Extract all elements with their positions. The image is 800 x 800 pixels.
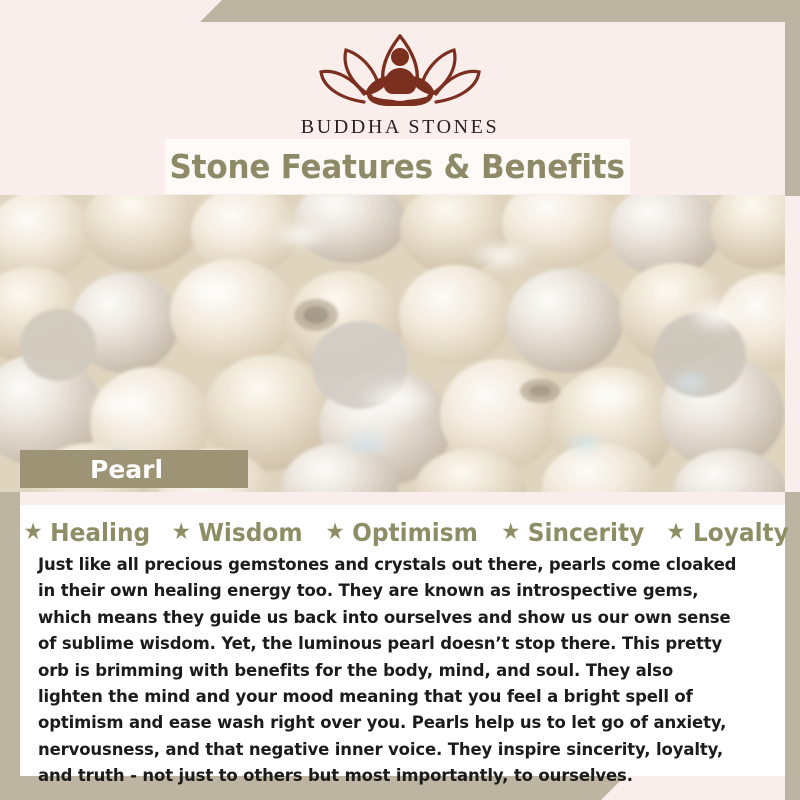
benefit-item-sincerity: ★ Sincerity <box>492 518 646 547</box>
benefit-label: Healing <box>50 518 150 547</box>
benefit-label: Optimism <box>352 518 478 547</box>
brand-logo: BUDDHA STONES <box>0 24 800 139</box>
stone-name-tag: Pearl <box>20 450 248 488</box>
benefit-item-healing: ★ Healing <box>14 518 152 547</box>
star-icon: ★ <box>666 521 685 544</box>
page-title: Stone Features & Benefits <box>170 147 625 186</box>
lotus-meditation-icon <box>305 24 495 110</box>
pearl-photo-graphic <box>0 195 785 492</box>
star-icon: ★ <box>172 521 191 544</box>
frame-band-top <box>200 0 800 22</box>
brand-name: BUDDHA STONES <box>301 116 499 139</box>
benefit-item-optimism: ★ Optimism <box>316 518 480 547</box>
star-icon: ★ <box>326 521 345 544</box>
stone-name: Pearl <box>90 455 163 484</box>
star-icon: ★ <box>24 521 43 544</box>
benefits-list: ★ Healing ★ Wisdom ★ Optimism ★ Sincerit… <box>38 515 767 549</box>
star-icon: ★ <box>501 521 520 544</box>
title-banner: Stone Features & Benefits <box>165 139 630 194</box>
pearl-photo <box>0 195 785 492</box>
benefit-item-loyalty: ★ Loyalty <box>657 518 791 547</box>
benefit-label: Wisdom <box>199 518 303 547</box>
benefit-label: Loyalty <box>693 518 789 547</box>
content-panel: ★ Healing ★ Wisdom ★ Optimism ★ Sincerit… <box>20 505 785 776</box>
benefit-label: Sincerity <box>528 518 645 547</box>
infographic-page: BUDDHA STONES Stone Features & Benefits <box>0 0 800 800</box>
description-text: Just like all precious gemstones and cry… <box>38 552 741 790</box>
benefit-item-wisdom: ★ Wisdom <box>163 518 305 547</box>
